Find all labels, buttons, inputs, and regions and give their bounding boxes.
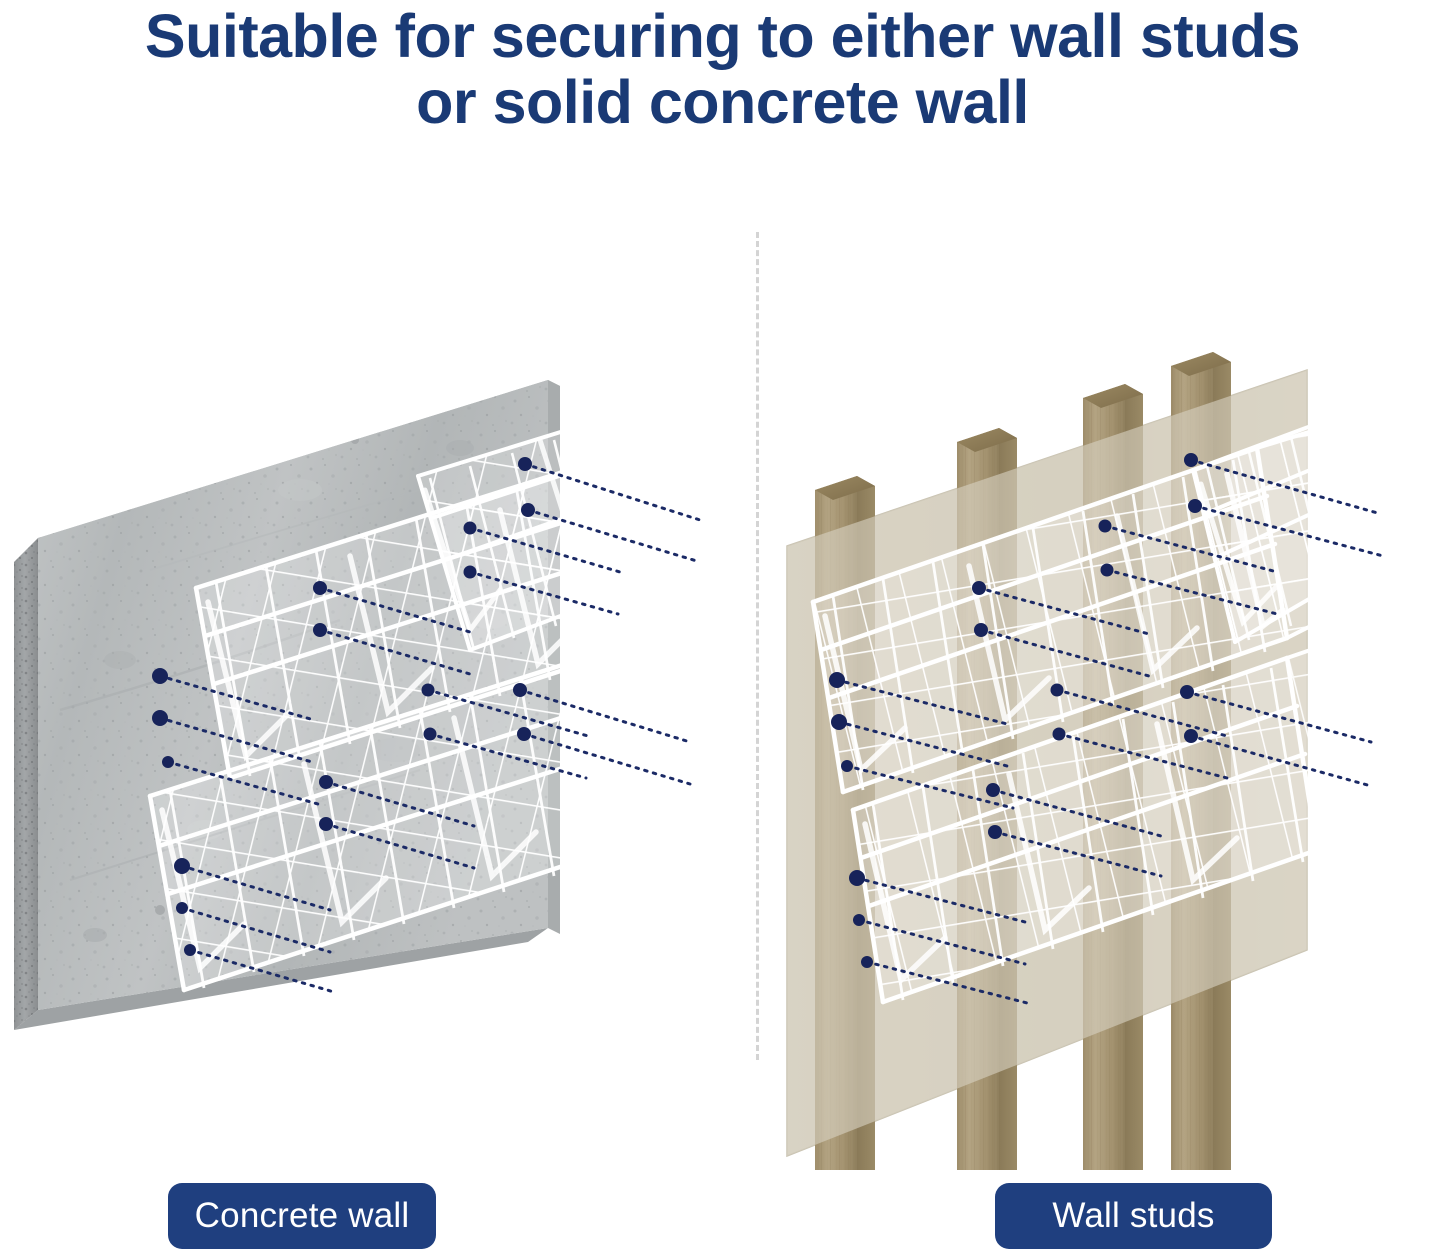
badge-concrete-wall: Concrete wall	[168, 1183, 436, 1249]
badge-concrete-wall-label: Concrete wall	[195, 1196, 410, 1236]
wall-studs-illustration	[757, 190, 1445, 1170]
concrete-wall-illustration	[0, 190, 757, 1170]
panel-divider	[756, 232, 759, 1060]
page-title-line-2: or solid concrete wall	[0, 70, 1445, 136]
page-title: Suitable for securing to either wall stu…	[0, 4, 1445, 136]
illustration-stage	[0, 190, 1445, 1170]
page-title-line-1: Suitable for securing to either wall stu…	[0, 4, 1445, 70]
badge-wall-studs: Wall studs	[995, 1183, 1272, 1249]
badge-wall-studs-label: Wall studs	[1052, 1196, 1214, 1236]
